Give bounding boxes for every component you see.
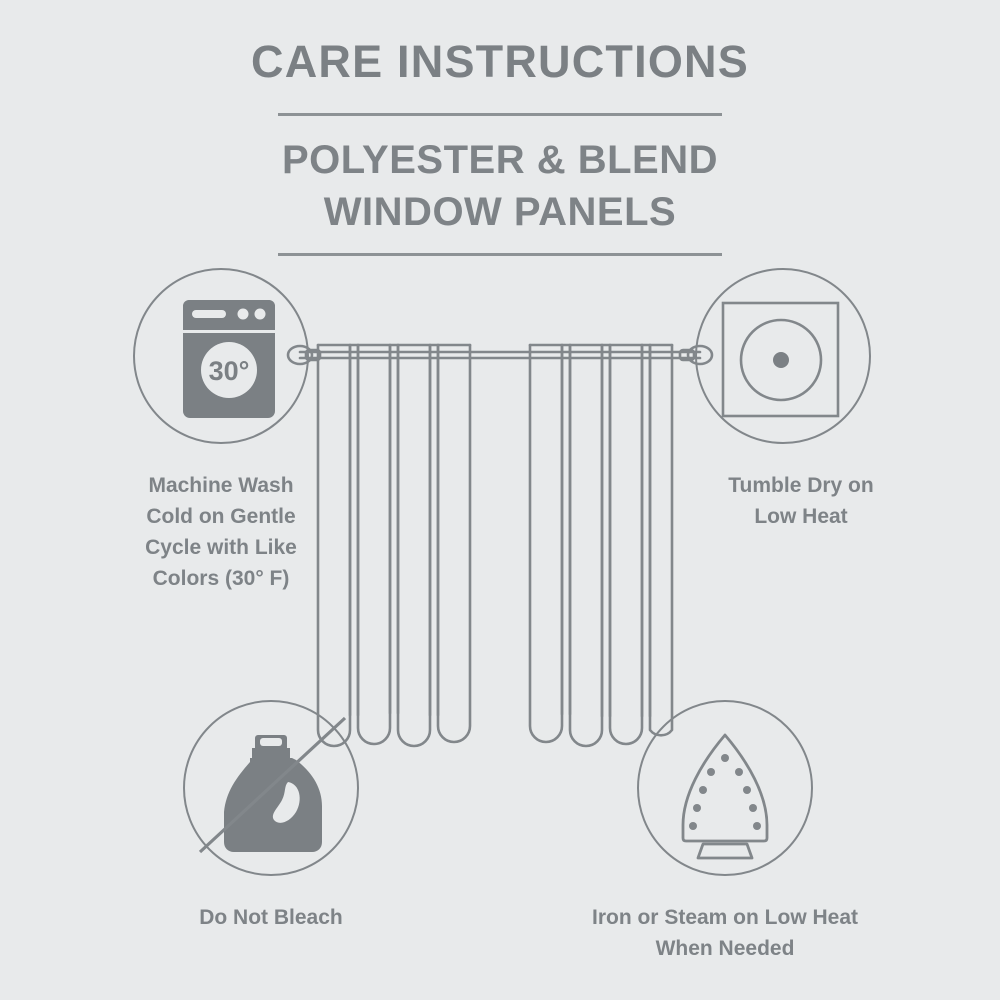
care-instructions-infographic: CARE INSTRUCTIONS POLYESTER & BLEND WIND… xyxy=(0,0,1000,1000)
wash-caption-line-1: Machine Wash xyxy=(61,470,381,501)
wash-caption: Machine Wash Cold on Gentle Cycle with L… xyxy=(61,470,381,594)
iron-icon-circle xyxy=(637,700,813,876)
curtain-panel-right xyxy=(530,345,672,746)
dry-caption-line-1: Tumble Dry on xyxy=(671,470,931,501)
iron-caption: Iron or Steam on Low Heat When Needed xyxy=(518,902,932,964)
wash-caption-line-4: Colors (30° F) xyxy=(61,563,381,594)
dry-icon-circle xyxy=(695,268,871,444)
iron-caption-line-1: Iron or Steam on Low Heat xyxy=(518,902,932,933)
dry-caption-line-2: Low Heat xyxy=(671,501,931,532)
wash-caption-line-2: Cold on Gentle xyxy=(61,501,381,532)
wash-caption-line-3: Cycle with Like xyxy=(61,532,381,563)
bleach-icon-circle xyxy=(183,700,359,876)
dry-caption: Tumble Dry on Low Heat xyxy=(671,470,931,532)
wash-temperature-label: 30° xyxy=(187,356,271,387)
iron-caption-line-2: When Needed xyxy=(518,933,932,964)
bleach-caption: Do Not Bleach xyxy=(131,902,411,933)
bleach-caption-line-1: Do Not Bleach xyxy=(131,902,411,933)
